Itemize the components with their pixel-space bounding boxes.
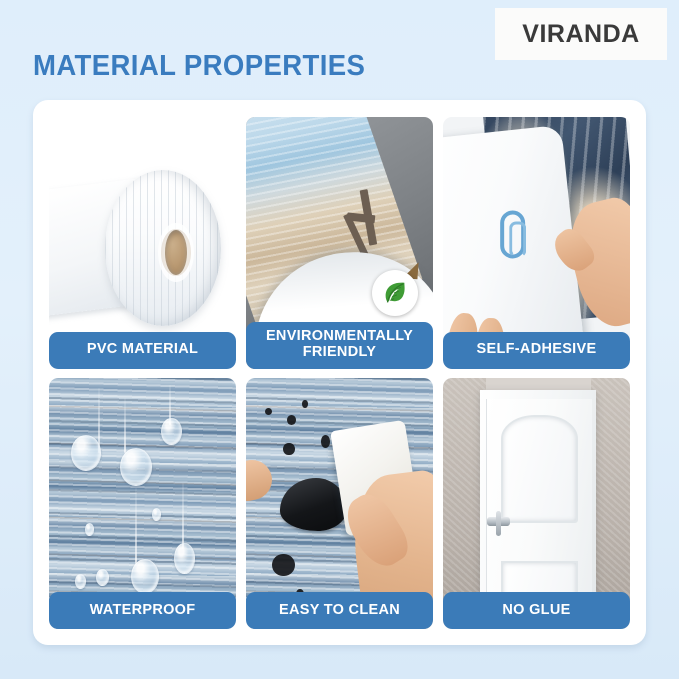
water-droplet bbox=[152, 508, 161, 521]
feature-label-environmentally-friendly: ENVIRONMENTALLY FRIENDLY bbox=[246, 322, 433, 368]
feature-tile-waterproof[interactable]: WATERPROOF bbox=[49, 378, 236, 630]
feature-tile-easy-to-clean[interactable]: EASY TO CLEAN bbox=[246, 378, 433, 630]
door-frame bbox=[480, 390, 596, 606]
water-droplet bbox=[96, 569, 109, 587]
peeling-liner-image bbox=[443, 117, 630, 369]
feature-tile-self-adhesive[interactable]: SELF-ADHESIVE bbox=[443, 117, 630, 369]
feature-tile-pvc-material[interactable]: PVC MATERIAL bbox=[49, 117, 236, 369]
feature-tile-no-glue[interactable]: NO GLUE bbox=[443, 378, 630, 630]
water-droplet bbox=[120, 448, 152, 486]
paperclip-icon bbox=[500, 210, 525, 258]
roll-body-shape bbox=[105, 170, 221, 326]
door-panel-upper bbox=[501, 415, 578, 523]
droplet-trail bbox=[182, 483, 184, 548]
feature-label-self-adhesive: SELF-ADHESIVE bbox=[443, 332, 630, 369]
door-panel bbox=[486, 399, 592, 607]
water-droplet bbox=[131, 559, 159, 594]
feature-label-no-glue: NO GLUE bbox=[443, 592, 630, 629]
stain-spot bbox=[283, 443, 294, 456]
leaf-icon bbox=[380, 278, 410, 308]
door-handle-icon bbox=[487, 517, 510, 526]
brand-logo-badge: VIRANDA bbox=[495, 8, 667, 60]
features-card: PVC MATERIAL bbox=[33, 100, 646, 645]
water-droplet bbox=[85, 523, 94, 536]
stain-spot bbox=[321, 435, 330, 448]
page-title: MATERIAL PROPERTIES bbox=[33, 50, 365, 83]
eco-leaf-badge bbox=[372, 270, 418, 316]
droplet-trail bbox=[135, 488, 137, 563]
pvc-roll-image bbox=[49, 117, 236, 369]
stain-spot bbox=[302, 400, 308, 408]
features-grid: PVC MATERIAL bbox=[49, 117, 630, 629]
feature-tile-environmentally-friendly[interactable]: ENVIRONMENTALLY FRIENDLY bbox=[246, 117, 433, 369]
water-droplet bbox=[161, 418, 182, 446]
feature-label-pvc-material: PVC MATERIAL bbox=[49, 332, 236, 369]
feature-label-easy-to-clean: EASY TO CLEAN bbox=[246, 592, 433, 629]
brand-name: VIRANDA bbox=[522, 20, 639, 49]
droplet-trail bbox=[124, 398, 126, 453]
stain-spot bbox=[272, 554, 294, 577]
feature-label-waterproof: WATERPROOF bbox=[49, 592, 236, 629]
water-droplet bbox=[174, 543, 195, 573]
roll-core-shape bbox=[161, 229, 191, 276]
water-droplet bbox=[71, 435, 101, 470]
